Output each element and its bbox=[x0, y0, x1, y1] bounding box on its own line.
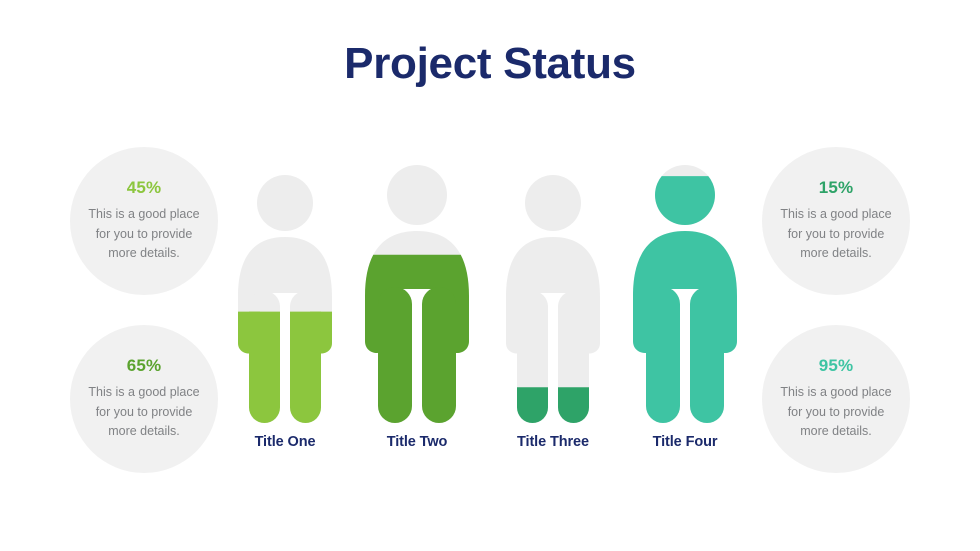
callout-percent: 65% bbox=[127, 356, 162, 376]
callout-bottom-right: 95% This is a good place for you to prov… bbox=[762, 325, 910, 473]
figure-column-1[interactable]: Title One bbox=[230, 173, 340, 450]
figure-label: Title Four bbox=[626, 434, 744, 450]
callout-bottom-left: 65% This is a good place for you to prov… bbox=[70, 325, 218, 473]
person-icon-2 bbox=[358, 163, 476, 425]
slide-canvas: { "slide": { "title": "Project Status", … bbox=[0, 0, 980, 551]
callout-percent: 15% bbox=[819, 178, 854, 198]
callout-description: This is a good place for you to provide … bbox=[82, 205, 206, 263]
callout-description: This is a good place for you to provide … bbox=[774, 383, 898, 441]
figure-column-2[interactable]: Title Two bbox=[358, 163, 476, 450]
figure-column-3[interactable]: Title Three bbox=[498, 173, 608, 450]
person-icon-4 bbox=[626, 163, 744, 425]
figure-label: Title Two bbox=[358, 434, 476, 450]
callout-top-right: 15% This is a good place for you to prov… bbox=[762, 147, 910, 295]
figure-column-4[interactable]: Title Four bbox=[626, 163, 744, 450]
callout-top-left: 45% This is a good place for you to prov… bbox=[70, 147, 218, 295]
page-title: Project Status bbox=[0, 40, 980, 88]
callout-percent: 95% bbox=[819, 356, 854, 376]
figure-label: Title One bbox=[230, 434, 340, 450]
figures-row: Title One Title Two bbox=[230, 160, 750, 450]
person-icon-1 bbox=[230, 173, 340, 425]
person-icon-3 bbox=[498, 173, 608, 425]
callout-description: This is a good place for you to provide … bbox=[82, 383, 206, 441]
figure-label: Title Three bbox=[498, 434, 608, 450]
callout-percent: 45% bbox=[127, 178, 162, 198]
callout-description: This is a good place for you to provide … bbox=[774, 205, 898, 263]
